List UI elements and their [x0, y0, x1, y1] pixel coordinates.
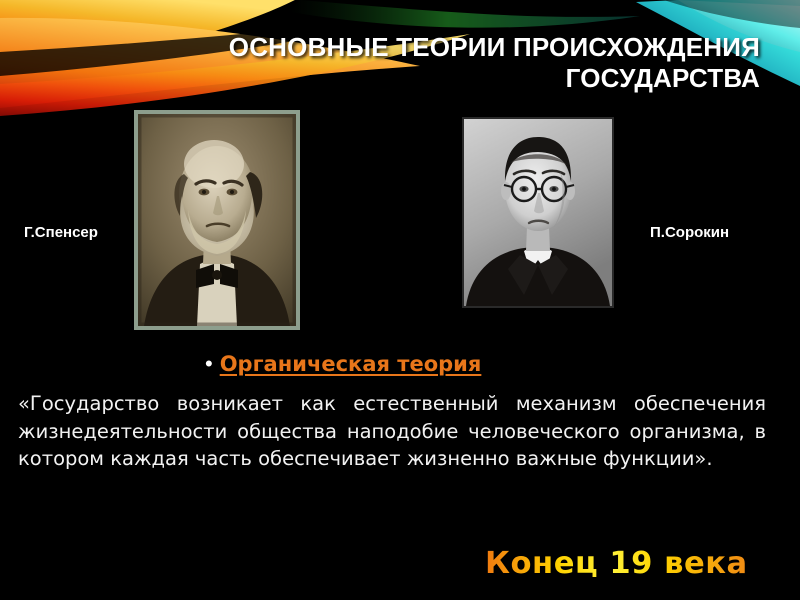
- caption-spencer: Г.Спенсер: [24, 224, 98, 241]
- period-banner: Конец 19 века: [485, 546, 748, 581]
- portrait-spencer: [134, 110, 300, 330]
- slide-title: ОСНОВНЫЕ ТЕОРИИ ПРОИСХОЖДЕНИЯ ГОСУДАРСТВ…: [40, 32, 760, 93]
- theory-definition-text: «Государство возникает как естественный …: [18, 390, 766, 473]
- bullet-heading-row: • Органическая теория: [205, 352, 481, 376]
- portrait-sorokin-image: [464, 119, 612, 306]
- portrait-spencer-image: [138, 114, 296, 326]
- caption-sorokin: П.Сорокин: [650, 224, 729, 241]
- bullet-marker-icon: •: [205, 353, 213, 375]
- portrait-sorokin: [462, 117, 614, 308]
- presentation-slide: ОСНОВНЫЕ ТЕОРИИ ПРОИСХОЖДЕНИЯ ГОСУДАРСТВ…: [0, 0, 800, 600]
- green-streak: [290, 0, 640, 28]
- cool-swoosh-dark-split: [664, 0, 800, 28]
- theory-heading: Органическая теория: [220, 352, 482, 376]
